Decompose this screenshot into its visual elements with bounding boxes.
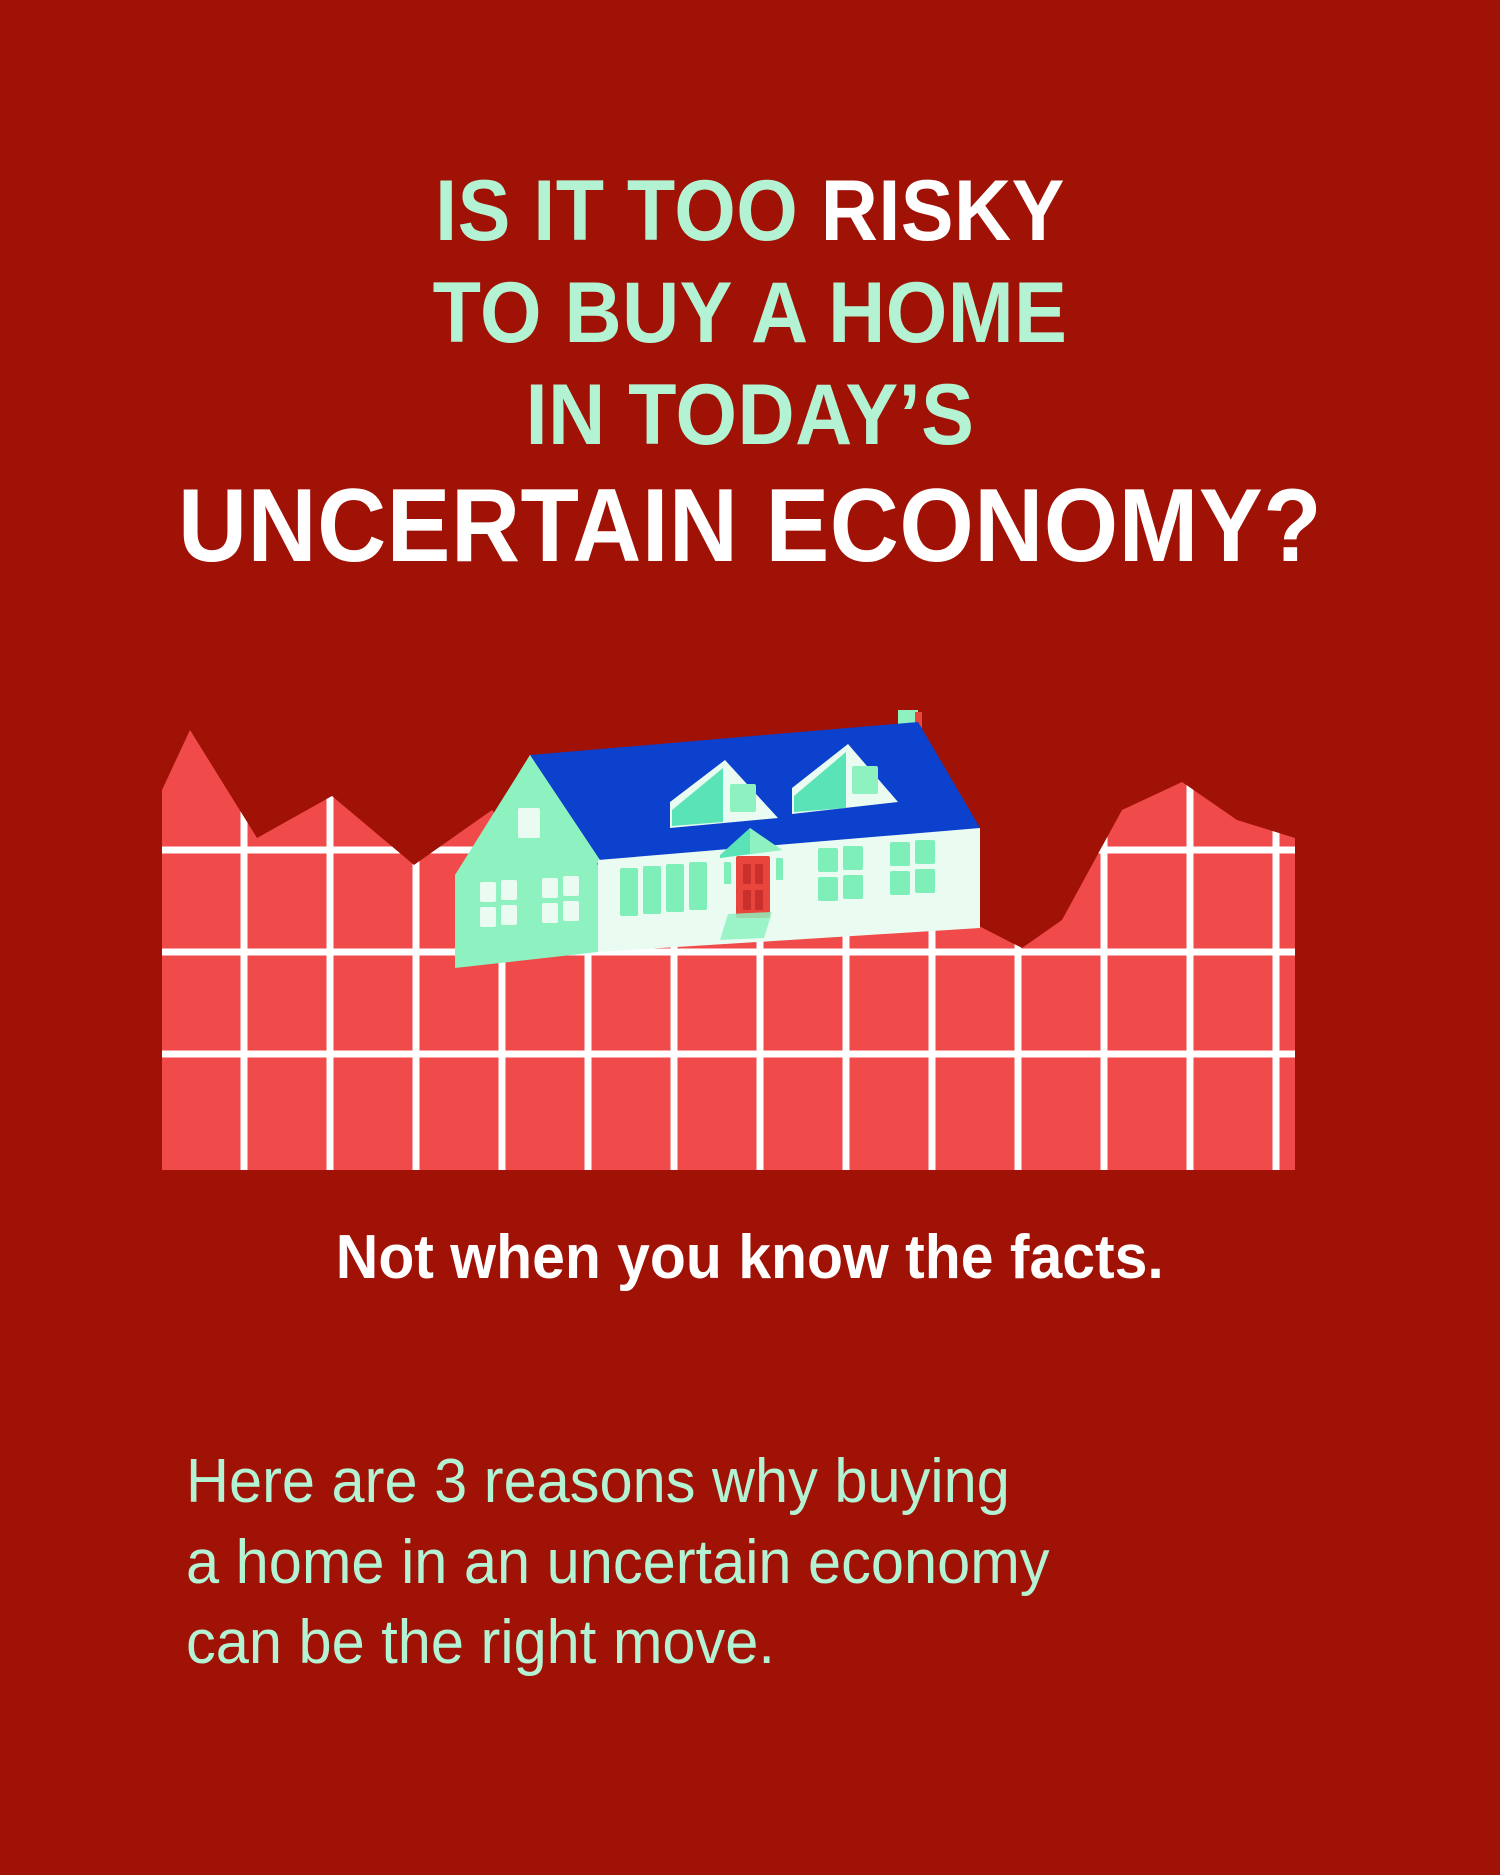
body-line-3: can be the right move. xyxy=(186,1603,1319,1684)
headline-block: IS IT TOO RISKY TO BUY A HOME IN TODAY’S… xyxy=(0,168,1500,578)
front-door xyxy=(736,856,770,918)
subtitle: Not when you know the facts. xyxy=(0,1222,1500,1293)
body-line-2: a home in an uncertain economy xyxy=(186,1523,1319,1604)
subtitle-text: Not when you know the facts. xyxy=(336,1222,1164,1293)
infographic-poster: IS IT TOO RISKY TO BUY A HOME IN TODAY’S… xyxy=(0,0,1500,1875)
house-illustration xyxy=(420,700,1060,1000)
headline-line-1-white: RISKY xyxy=(821,163,1065,259)
door-step xyxy=(720,912,772,940)
body-line-1: Here are 3 reasons why buying xyxy=(186,1442,1319,1523)
attic-window xyxy=(518,808,540,838)
headline-line-3: IN TODAY’S xyxy=(60,372,1440,458)
door-sidelight-left xyxy=(724,862,731,884)
headline-line-1: IS IT TOO RISKY xyxy=(60,168,1440,254)
door-sidelight-right xyxy=(776,858,783,880)
house-svg xyxy=(420,700,1060,1000)
headline-line-1-mint: IS IT TOO xyxy=(435,163,821,259)
body-copy: Here are 3 reasons why buying a home in … xyxy=(186,1442,1366,1684)
headline-line-2: TO BUY A HOME xyxy=(60,270,1440,356)
headline-line-4: UNCERTAIN ECONOMY? xyxy=(60,474,1440,578)
